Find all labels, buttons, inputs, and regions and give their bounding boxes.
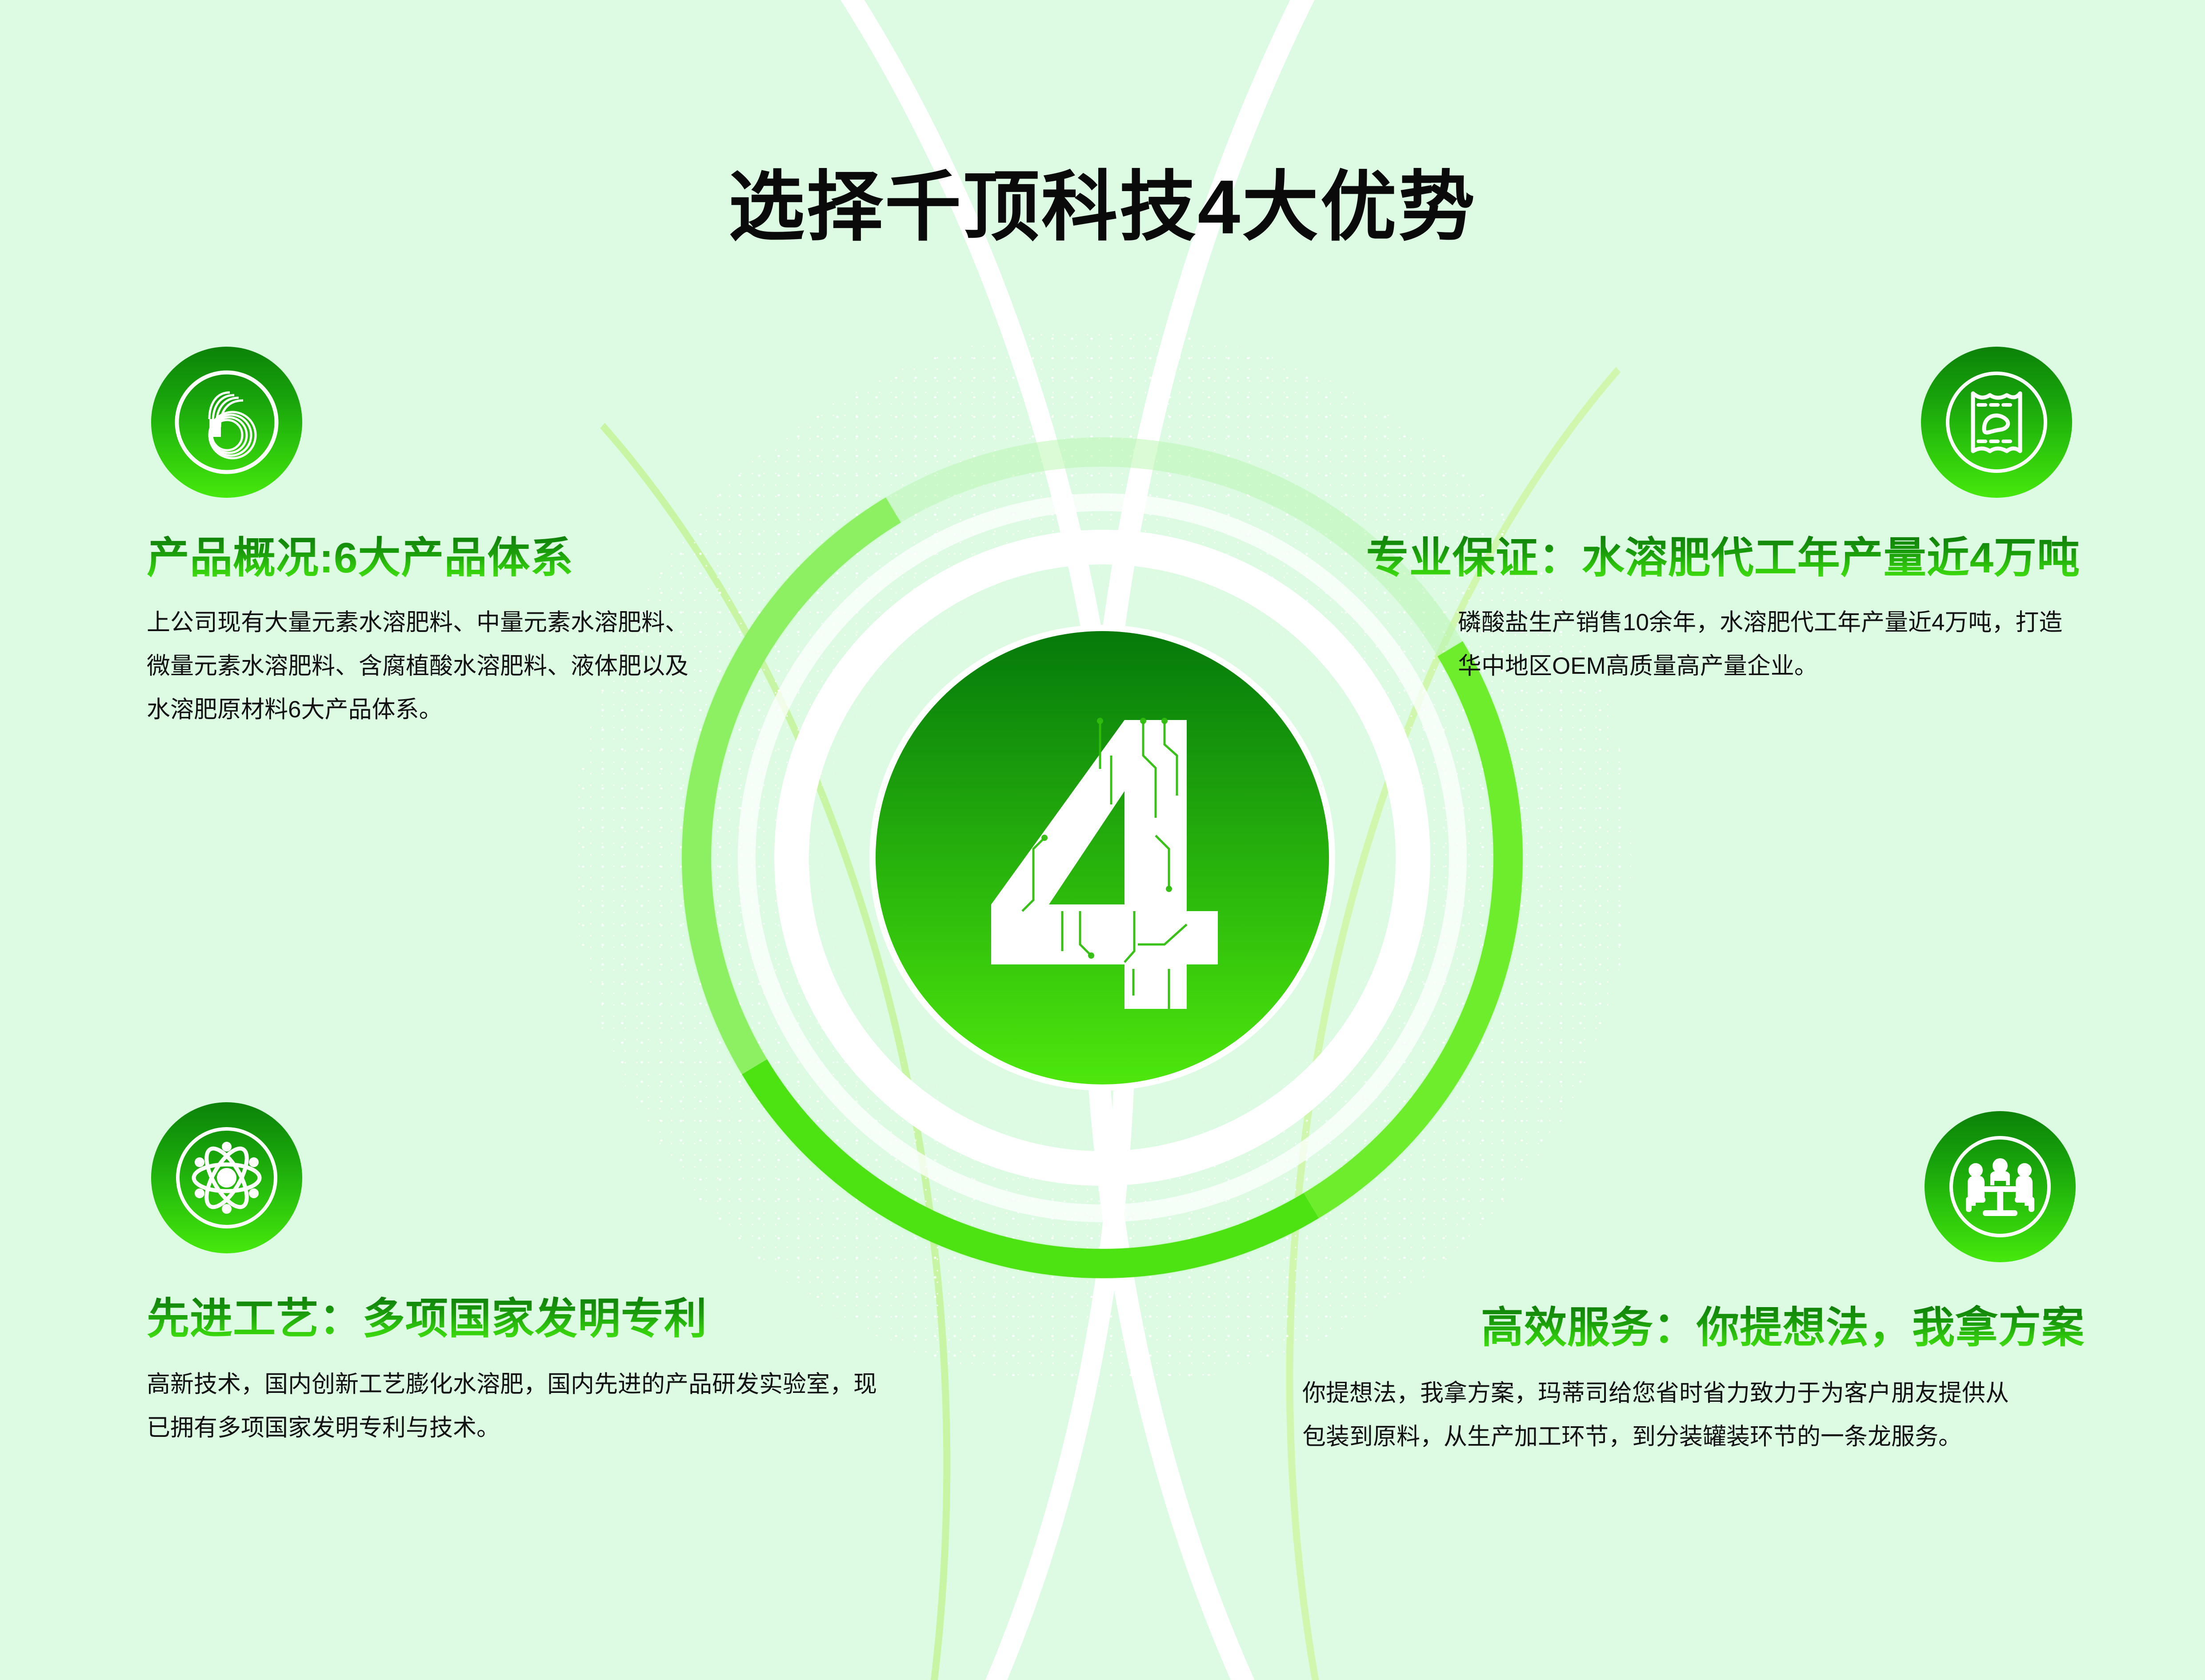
number-six-rings-glyph	[171, 367, 282, 478]
fertilizer-bag-glyph	[1941, 367, 2052, 478]
feature-body-top-left: 上公司现有大量元素水溶肥料、中量元素水溶肥料、微量元素水溶肥料、含腐植酸水溶肥料…	[147, 601, 698, 732]
feature-heading-top-left: 产品概况:6大产品体系	[147, 535, 724, 581]
feature-heading-bottom-right: 高效服务：你提想法，我拿方案	[1302, 1305, 2085, 1351]
feature-body-top-right: 磷酸盐生产销售10余年，水溶肥代工年产量近4万吨，打造华中地区OEM高质量高产量…	[1458, 601, 2080, 688]
people-at-table-icon	[1925, 1111, 2076, 1262]
atom-glyph	[171, 1122, 282, 1233]
feature-block-bottom-left: 先进工艺：多项国家发明专利 高新技术，国内创新工艺膨化水溶肥，国内先进的产品研发…	[147, 1102, 947, 1450]
feature-block-top-right: 专业保证：水溶肥代工年产量近4万吨 磷酸盐生产销售10余年，水溶肥代工年产量近4…	[1200, 347, 2080, 688]
feature-block-top-left: 产品概况:6大产品体系 上公司现有大量元素水溶肥料、中量元素水溶肥料、微量元素水…	[147, 347, 724, 732]
feature-heading-bottom-left: 先进工艺：多项国家发明专利	[147, 1296, 947, 1342]
feature-body-bottom-left: 高新技术，国内创新工艺膨化水溶肥，国内先进的产品研发实验室，现已拥有多项国家发明…	[147, 1363, 893, 1450]
number-six-rings-icon	[151, 347, 302, 498]
fertilizer-bag-icon	[1921, 347, 2072, 498]
feature-body-bottom-right: 你提想法，我拿方案，玛蒂司给您省时省力致力于为客户朋友提供从包装到原料，从生产加…	[1302, 1372, 2022, 1459]
page-title: 选择千顶科技4大优势	[0, 144, 2205, 256]
circuit-number-4-icon	[978, 702, 1227, 1013]
feature-block-bottom-right: 高效服务：你提想法，我拿方案 你提想法，我拿方案，玛蒂司给您省时省力致力于为客户…	[1302, 1111, 2085, 1459]
feature-heading-top-right: 专业保证：水溶肥代工年产量近4万吨	[1200, 535, 2080, 581]
atom-icon	[151, 1102, 302, 1253]
people-at-table-glyph	[1945, 1131, 2056, 1242]
center-number-disc	[876, 631, 1329, 1084]
